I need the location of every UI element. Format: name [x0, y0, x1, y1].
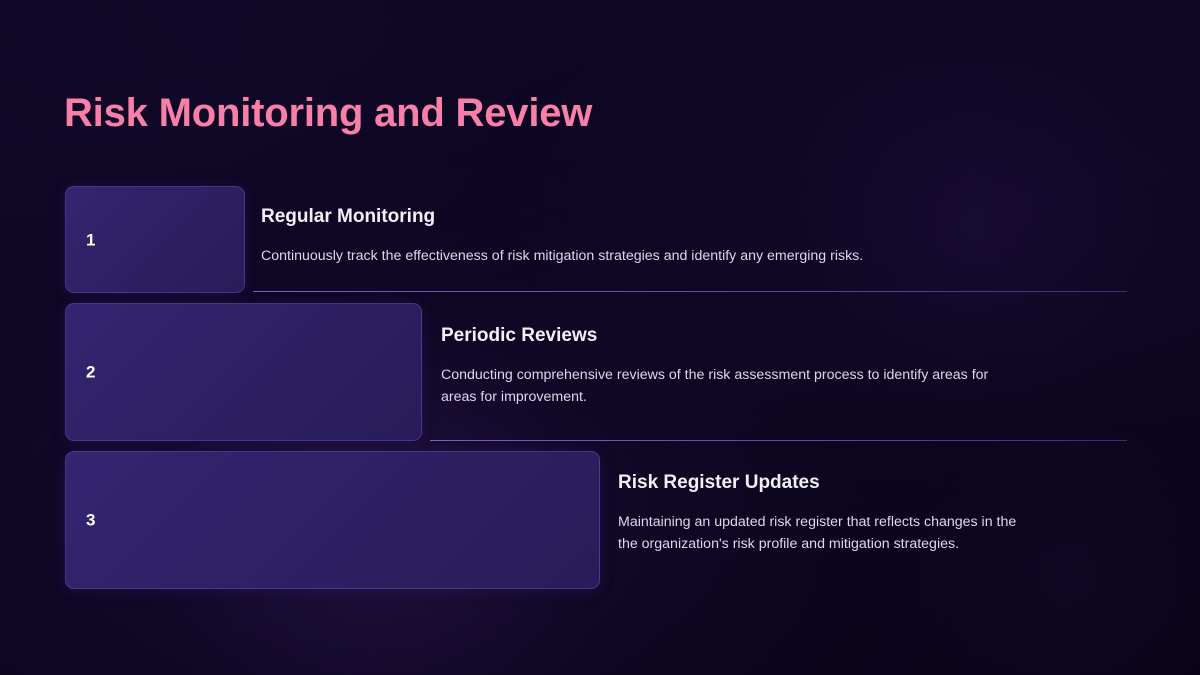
step-heading: Periodic Reviews	[441, 325, 1131, 348]
step-number-label: 2	[86, 364, 95, 381]
step-number-label: 1	[86, 231, 95, 248]
step-divider-1	[253, 291, 1127, 292]
step-heading: Regular Monitoring	[261, 206, 1101, 229]
slide-canvas: Risk Monitoring and Review 1 Regular Mon…	[0, 0, 1200, 675]
page-title: Risk Monitoring and Review	[64, 90, 592, 136]
step-body-line: Continuously track the effectiveness of …	[261, 245, 1101, 267]
step-body: Conducting comprehensive reviews of the …	[441, 364, 1131, 408]
step-body-line: areas for improvement.	[441, 386, 1131, 408]
step-body-line: Maintaining an updated risk register tha…	[618, 511, 1138, 533]
step-body: Continuously track the effectiveness of …	[261, 245, 1101, 267]
step-body-line: the organization's risk profile and miti…	[618, 533, 1138, 555]
step-text-block-1: Regular Monitoring Continuously track th…	[261, 206, 1101, 267]
step-heading: Risk Register Updates	[618, 472, 1138, 495]
step-number-box-3: 3	[65, 451, 600, 589]
step-divider-2	[430, 440, 1127, 441]
step-text-block-2: Periodic Reviews Conducting comprehensiv…	[441, 325, 1131, 408]
step-number-box-1: 1	[65, 186, 245, 293]
step-body: Maintaining an updated risk register tha…	[618, 511, 1138, 555]
step-number-box-2: 2	[65, 303, 422, 441]
step-text-block-3: Risk Register Updates Maintaining an upd…	[618, 472, 1138, 555]
step-body-line: Conducting comprehensive reviews of the …	[441, 364, 1131, 386]
step-number-label: 3	[86, 512, 95, 529]
